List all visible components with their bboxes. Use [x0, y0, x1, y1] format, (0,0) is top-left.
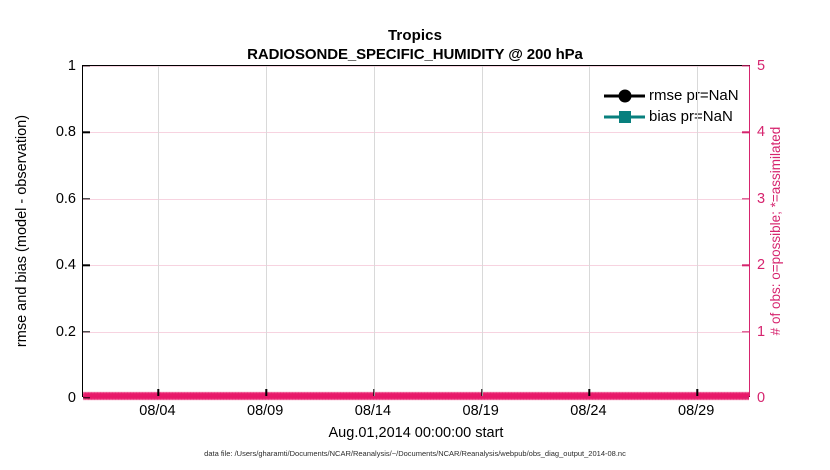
x-tick-mark	[696, 389, 697, 396]
data-file-footer: data file: /Users/gharamti/Documents/NCA…	[0, 449, 830, 458]
y-tick-mark-left	[83, 397, 90, 398]
y-tick-label-left: 0.4	[56, 257, 76, 273]
x-tick-label: 08/09	[247, 403, 283, 419]
y-axis-label-right: # of obs: o=possible; *=assimilated	[768, 65, 790, 397]
bias-marker-icon	[602, 109, 647, 125]
y-tick-label-left: 0.6	[56, 191, 76, 207]
x-tick-label: 08/29	[678, 403, 714, 419]
horizontal-gridline	[83, 199, 749, 200]
chart-title-block: Tropics RADIOSONDE_SPECIFIC_HUMIDITY @ 2…	[0, 26, 830, 64]
y-tick-mark-right	[742, 264, 749, 265]
y-tick-mark-right	[742, 132, 749, 133]
x-axis-label: Aug.01,2014 00:00:00 start	[82, 425, 750, 441]
vertical-gridline	[482, 66, 483, 396]
y-tick-label-right: 2	[757, 257, 765, 273]
y-tick-mark-right	[742, 397, 749, 398]
legend-label-bias: bias pr=NaN	[647, 108, 733, 125]
y-tick-label-right: 0	[757, 390, 765, 406]
y-tick-label-right: 1	[757, 324, 765, 340]
legend-item-rmse[interactable]: rmse pr=NaN	[602, 85, 739, 106]
vertical-gridline	[697, 66, 698, 396]
legend-label-rmse: rmse pr=NaN	[647, 87, 739, 104]
y-tick-label-right: 4	[757, 124, 765, 140]
y-tick-mark-left	[83, 65, 90, 66]
y-tick-mark-right	[742, 331, 749, 332]
y-tick-label-left: 0	[68, 390, 76, 406]
y-axis-label-left: rmse and bias (model - observation)	[14, 65, 36, 397]
chart-subtitle: RADIOSONDE_SPECIFIC_HUMIDITY @ 200 hPa	[0, 45, 830, 64]
horizontal-gridline	[83, 66, 749, 67]
x-tick-label: 08/14	[355, 403, 391, 419]
legend-item-bias[interactable]: bias pr=NaN	[602, 106, 739, 127]
y-tick-mark-left	[83, 132, 90, 133]
y-tick-label-right: 5	[757, 58, 765, 74]
y-tick-label-left: 1	[68, 58, 76, 74]
y-tick-mark-right	[742, 198, 749, 199]
x-tick-mark	[158, 389, 159, 396]
x-tick-label: 08/04	[139, 403, 175, 419]
y-tick-mark-left	[83, 264, 90, 265]
x-tick-label: 08/24	[570, 403, 606, 419]
obs-marker-canvas	[83, 389, 749, 403]
horizontal-gridline	[83, 132, 749, 133]
y-tick-label-left: 0.2	[56, 324, 76, 340]
x-tick-mark	[373, 389, 374, 396]
y-tick-label-right: 3	[757, 191, 765, 207]
vertical-gridline	[266, 66, 267, 396]
x-tick-mark	[589, 389, 590, 396]
x-tick-mark	[265, 389, 266, 396]
y-tick-mark-right	[742, 65, 749, 66]
chart-title: Tropics	[0, 26, 830, 45]
horizontal-gridline	[83, 332, 749, 333]
rmse-marker-icon	[602, 88, 647, 104]
chart-legend: rmse pr=NaN bias pr=NaN	[598, 83, 743, 129]
vertical-gridline	[374, 66, 375, 396]
x-tick-label: 08/19	[463, 403, 499, 419]
y-tick-mark-left	[83, 198, 90, 199]
vertical-gridline	[158, 66, 159, 396]
y-tick-label-left: 0.8	[56, 124, 76, 140]
x-tick-mark	[481, 389, 482, 396]
plot-area: rmse pr=NaN bias pr=NaN 00.20.40.60.8101…	[82, 65, 750, 397]
obs-count-marker-band	[83, 389, 749, 403]
y-tick-mark-left	[83, 331, 90, 332]
vertical-gridline	[589, 66, 590, 396]
horizontal-gridline	[83, 265, 749, 266]
